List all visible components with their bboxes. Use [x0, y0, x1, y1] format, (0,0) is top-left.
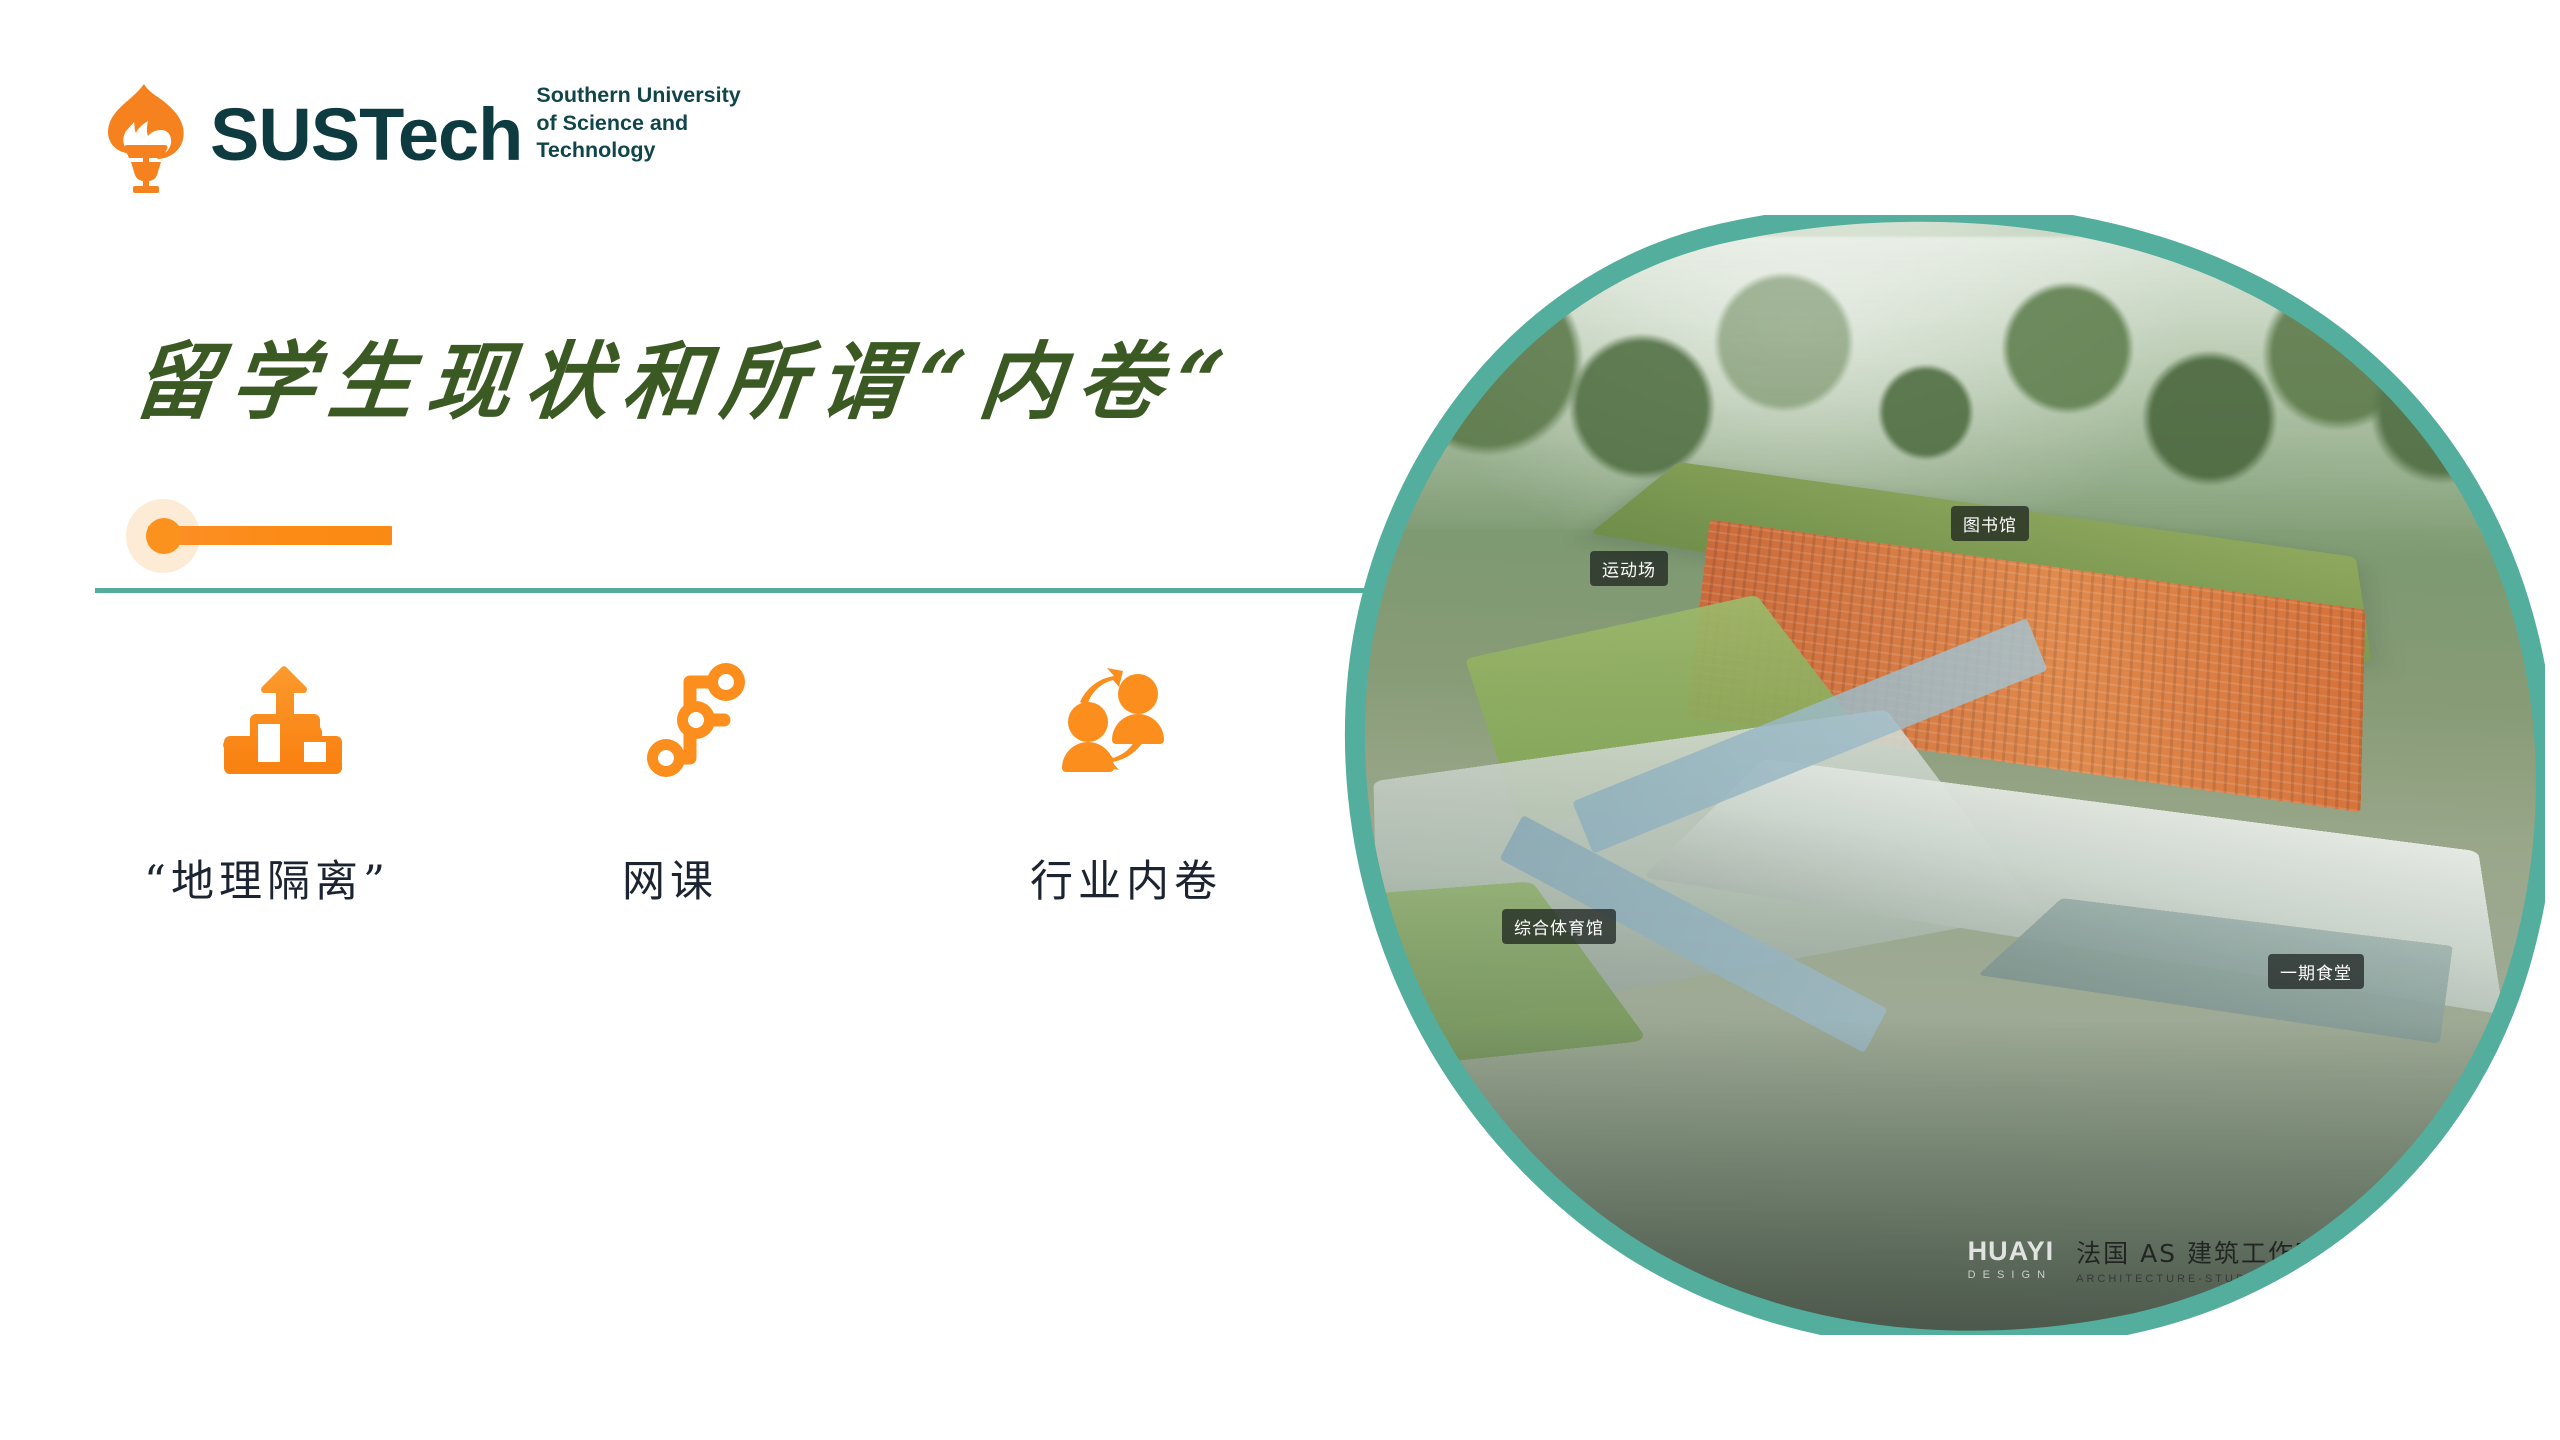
progress-slider[interactable] — [126, 490, 392, 580]
watermark-anniversary-badge: 25 — [2344, 1236, 2390, 1282]
page-title: 留学生现状和所谓“内卷“ — [128, 315, 1245, 436]
image-label-canteen: 一期食堂 — [2268, 954, 2364, 989]
feature-label: “地理隔离” — [120, 847, 540, 909]
campus-rendering-figure: 图书馆 一期食堂 运动场 综合体育馆 HUAYI D E S I G N 法国 … — [1255, 215, 2545, 1335]
sustech-logo[interactable]: SUSTech Southern University of Science a… — [100, 82, 741, 200]
slide-root: SUSTech Southern University of Science a… — [0, 0, 2560, 1440]
feature-icon-wrap — [540, 645, 960, 795]
image-label-library: 图书馆 — [1951, 506, 2029, 541]
feature-label: 网课 — [540, 847, 960, 909]
watermark-brand: HUAYI D E S I G N — [1968, 1238, 2055, 1281]
node-path-icon — [644, 662, 748, 778]
watermark-brand-en-sub: D E S I G N — [1968, 1269, 2055, 1281]
tree-canopy-layer — [1255, 237, 2545, 528]
bar-chart-up-icon — [218, 664, 350, 776]
feature-icon-wrap — [120, 645, 540, 795]
image-label-sports: 运动场 — [1590, 551, 1668, 586]
slider-knob[interactable] — [146, 518, 182, 554]
torch-icon — [100, 82, 192, 200]
blob-clip-svg: 图书馆 一期食堂 运动场 综合体育馆 HUAYI D E S I G N 法国 … — [1255, 215, 2545, 1335]
feature-row: “地理隔离” 网课 — [120, 645, 1380, 909]
people-exchange-icon — [1050, 662, 1176, 778]
rendering-image: 图书馆 一期食堂 运动场 综合体育馆 HUAYI D E S I G N 法国 … — [1255, 215, 2545, 1335]
slider-track[interactable] — [148, 526, 392, 545]
logo-wordmark: SUSTech Southern University of Science a… — [210, 82, 741, 171]
feature-item-online-class[interactable]: 网课 — [540, 645, 960, 909]
logo-subtitle: Southern University of Science and Techn… — [536, 82, 740, 171]
logo-sustech-text: SUSTech — [210, 100, 522, 170]
image-label-complex: 综合体育馆 — [1502, 909, 1616, 944]
feature-item-geographic-isolation[interactable]: “地理隔离” — [120, 645, 540, 909]
watermark-brand-en: HUAYI — [1968, 1238, 2055, 1265]
